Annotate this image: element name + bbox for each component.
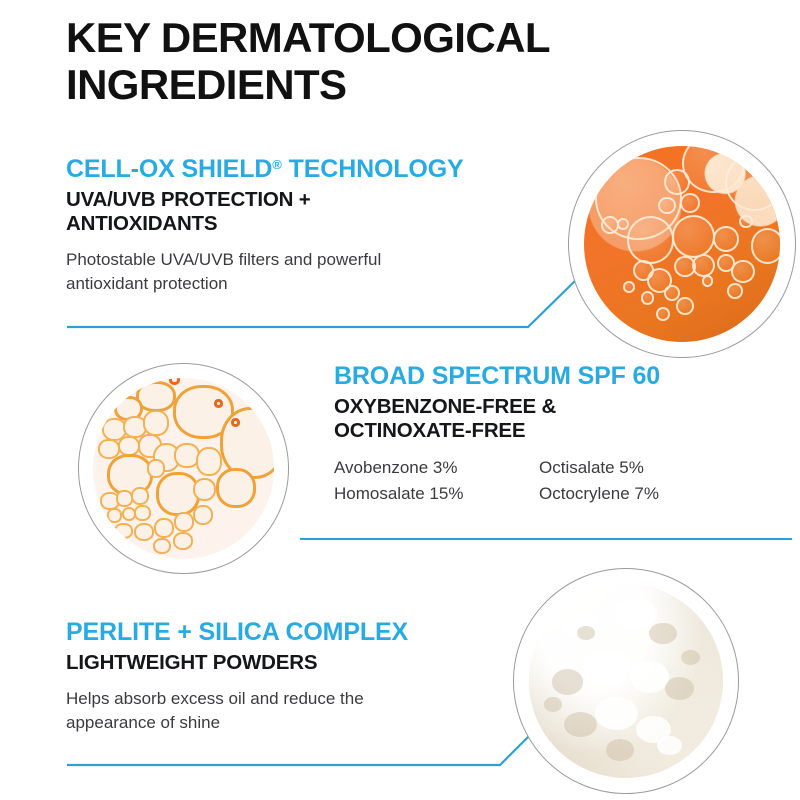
ingredient-column-1: Avobenzone 3% Homosalate 15% bbox=[334, 455, 539, 507]
orange-oil-bubbles-photo bbox=[584, 146, 781, 343]
section-body: Photostable UVA/UVB filters and powerful… bbox=[66, 248, 546, 296]
ingredient-item: Avobenzone 3% bbox=[334, 455, 539, 481]
section-broad-spectrum: BROAD SPECTRUM SPF 60 OXYBENZONE-FREE & … bbox=[334, 362, 784, 507]
cellular-structure-photo bbox=[93, 378, 275, 560]
registered-trademark-icon: ® bbox=[272, 157, 282, 172]
ingredients-infographic: KEY DERMATOLOGICAL INGREDIENTS CELL-OX S… bbox=[0, 0, 800, 800]
connector-rule-1 bbox=[66, 300, 596, 348]
ingredient-item: Octocrylene 7% bbox=[539, 481, 659, 507]
connector-rule-2 bbox=[300, 538, 792, 540]
ingredient-column-2: Octisalate 5% Octocrylene 7% bbox=[539, 455, 659, 507]
section-cell-ox-shield: CELL-OX SHIELD® TECHNOLOGY UVA/UVB PROTE… bbox=[66, 150, 546, 296]
section-headline: PERLITE + SILICA COMPLEX bbox=[66, 618, 536, 647]
section-subhead: LIGHTWEIGHT POWDERS bbox=[66, 651, 536, 675]
medallion-cellular-structure bbox=[78, 363, 289, 574]
medallion-white-powder bbox=[513, 568, 739, 794]
connector-rule-3 bbox=[66, 718, 586, 778]
headline-text: CELL-OX SHIELD bbox=[66, 155, 272, 183]
headline-suffix: TECHNOLOGY bbox=[282, 155, 464, 183]
ingredient-item: Homosalate 15% bbox=[334, 481, 539, 507]
medallion-orange-oil bbox=[568, 130, 796, 358]
ingredient-item: Octisalate 5% bbox=[539, 455, 659, 481]
section-headline: CELL-OX SHIELD® TECHNOLOGY bbox=[66, 150, 546, 184]
section-subhead: OXYBENZONE-FREE & OCTINOXATE-FREE bbox=[334, 395, 784, 443]
section-headline: BROAD SPECTRUM SPF 60 bbox=[334, 362, 784, 391]
section-subhead: UVA/UVB PROTECTION + ANTIOXIDANTS bbox=[66, 188, 546, 236]
ingredient-list: Avobenzone 3% Homosalate 15% Octisalate … bbox=[334, 455, 784, 507]
white-powder-photo bbox=[529, 584, 724, 779]
page-title: KEY DERMATOLOGICAL INGREDIENTS bbox=[66, 14, 686, 108]
